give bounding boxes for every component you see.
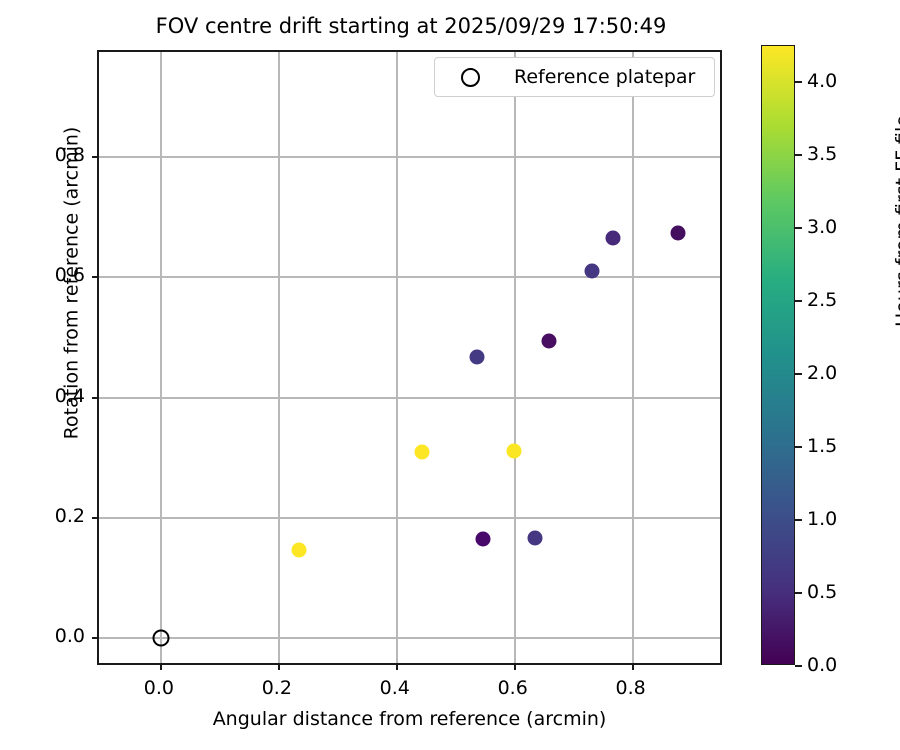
colorbar-gradient — [761, 45, 795, 665]
scatter-point — [475, 531, 490, 546]
plot-axes — [97, 50, 722, 665]
y-axis-tick-label: 0.2 — [55, 505, 85, 527]
colorbar: 0.00.51.01.52.02.53.03.54.0 — [761, 45, 795, 665]
gridline-vertical — [514, 52, 516, 663]
y-axis-label: Rotation from reference (arcmin) — [61, 0, 83, 591]
figure-canvas: FOV centre drift starting at 2025/09/29 … — [0, 0, 900, 750]
x-axis-tick-label: 0.0 — [144, 677, 174, 699]
x-axis-tick — [514, 663, 516, 670]
x-axis-tick — [632, 663, 634, 670]
x-axis-tick-label: 0.4 — [380, 677, 410, 699]
scatter-point — [606, 231, 621, 246]
colorbar-tick-label: 4.0 — [807, 70, 837, 92]
colorbar-tick-label: 0.0 — [807, 654, 837, 676]
colorbar-tick — [795, 300, 802, 302]
gridline-horizontal — [99, 637, 720, 639]
gridline-horizontal — [99, 397, 720, 399]
gridline-vertical — [278, 52, 280, 663]
colorbar-tick-label: 2.0 — [807, 362, 837, 384]
x-axis-tick — [396, 663, 398, 670]
colorbar-tick — [795, 227, 802, 229]
y-axis-tick-label: 0.8 — [55, 144, 85, 166]
gridline-vertical — [632, 52, 634, 663]
y-axis-tick-label: 0.4 — [55, 385, 85, 407]
scatter-point — [506, 444, 521, 459]
colorbar-tick-label: 1.0 — [807, 508, 837, 530]
reference-platepar-marker — [152, 630, 169, 647]
colorbar-tick-label: 3.5 — [807, 143, 837, 165]
colorbar-tick — [795, 373, 802, 375]
scatter-point — [584, 264, 599, 279]
scatter-point — [671, 225, 686, 240]
legend-reference-marker-icon — [461, 68, 480, 87]
scatter-point — [415, 445, 430, 460]
y-axis-tick — [92, 156, 99, 158]
y-axis-tick-label: 0.0 — [55, 625, 85, 647]
gridline-horizontal — [99, 276, 720, 278]
gridline-horizontal — [99, 517, 720, 519]
colorbar-tick — [795, 665, 802, 667]
colorbar-label: Hours from first FF file — [892, 6, 900, 436]
y-axis-tick-label: 0.6 — [55, 264, 85, 286]
chart-title: FOV centre drift starting at 2025/09/29 … — [0, 14, 822, 38]
colorbar-tick — [795, 81, 802, 83]
x-axis-tick — [278, 663, 280, 670]
y-axis-tick — [92, 637, 99, 639]
gridline-vertical — [160, 52, 162, 663]
x-axis-tick-label: 0.6 — [498, 677, 528, 699]
colorbar-tick — [795, 592, 802, 594]
legend-entry-label: Reference platepar — [514, 66, 695, 88]
colorbar-tick-label: 2.5 — [807, 289, 837, 311]
scatter-point — [542, 334, 557, 349]
colorbar-tick — [795, 519, 802, 521]
y-axis-tick — [92, 517, 99, 519]
colorbar-tick — [795, 154, 802, 156]
colorbar-tick-label: 0.5 — [807, 581, 837, 603]
x-axis-tick — [160, 663, 162, 670]
scatter-point — [469, 350, 484, 365]
gridline-horizontal — [99, 156, 720, 158]
scatter-point — [528, 531, 543, 546]
y-axis-tick — [92, 397, 99, 399]
scatter-point — [292, 543, 307, 558]
colorbar-tick-label: 3.0 — [807, 216, 837, 238]
x-axis-tick-label: 0.2 — [262, 677, 292, 699]
gridline-vertical — [396, 52, 398, 663]
colorbar-tick-label: 1.5 — [807, 435, 837, 457]
colorbar-tick — [795, 446, 802, 448]
x-axis-tick-label: 0.8 — [615, 677, 645, 699]
y-axis-tick — [92, 276, 99, 278]
x-axis-label: Angular distance from reference (arcmin) — [97, 708, 722, 730]
legend: Reference platepar — [434, 57, 715, 97]
